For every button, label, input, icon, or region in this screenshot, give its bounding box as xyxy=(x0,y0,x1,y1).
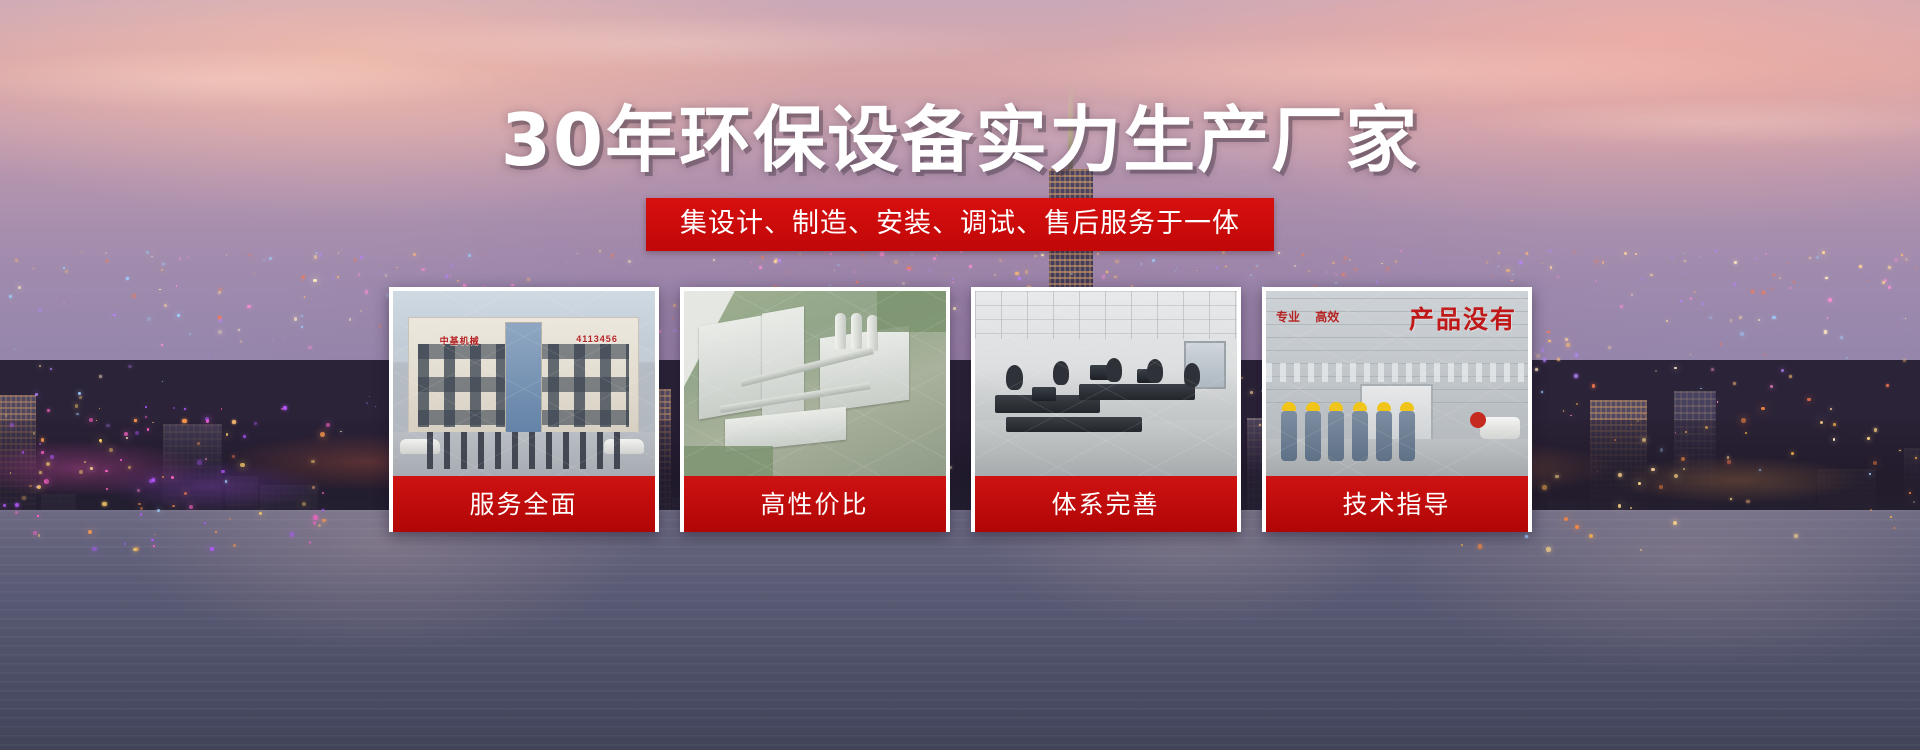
photo-silo xyxy=(851,313,862,349)
subtitle-badge: 集设计、制造、安装、调试、售后服务于一体 xyxy=(646,198,1274,251)
helmet-icon xyxy=(1353,402,1367,411)
photo-desk xyxy=(1079,384,1194,401)
wall-headline-text: 产品没有 xyxy=(1409,300,1517,336)
photo-worker xyxy=(1281,411,1297,461)
photo-roller-door xyxy=(1360,384,1433,443)
photo-greenery xyxy=(877,291,945,332)
photo-worker xyxy=(1352,411,1368,461)
aerial-factory-plant-photo xyxy=(684,291,946,476)
photo-plant-block xyxy=(820,325,909,412)
helmet-icon xyxy=(1377,402,1391,411)
helmet-icon xyxy=(1282,402,1296,411)
card-caption: 高性价比 xyxy=(684,476,946,532)
feature-card[interactable]: 体系完善 xyxy=(971,287,1241,532)
feature-card[interactable]: 高性价比 xyxy=(680,287,950,532)
photo-red-object xyxy=(1470,412,1486,428)
office-interior-team-photo xyxy=(975,291,1237,476)
banner-content: 30年环保设备实力生产厂家 集设计、制造、安装、调试、售后服务于一体 中基机械 … xyxy=(0,0,1920,750)
photo-silo xyxy=(835,313,846,349)
wall-slogan-1: 专业 xyxy=(1276,308,1300,325)
photo-person xyxy=(1184,363,1200,387)
photo-staff-lineup xyxy=(427,432,621,469)
helmet-icon xyxy=(1400,402,1414,411)
hero-banner: 30年环保设备实力生产厂家 集设计、制造、安装、调试、售后服务于一体 中基机械 … xyxy=(0,0,1920,750)
photo-person xyxy=(1006,365,1023,390)
photo-greenery xyxy=(684,446,773,476)
feature-card[interactable]: 专业 高效 产品没有 技术指导 xyxy=(1262,287,1532,532)
photo-silo xyxy=(867,315,878,351)
card-caption: 服务全面 xyxy=(393,476,655,532)
photo-van xyxy=(1480,417,1520,439)
factory-exterior-workers-photo: 专业 高效 产品没有 xyxy=(1266,291,1528,476)
feature-card-list: 中基机械 4113456 服务全面 xyxy=(389,287,1532,532)
photo-ceiling xyxy=(975,291,1237,339)
photo-person xyxy=(1053,361,1069,385)
photo-worker xyxy=(1328,411,1344,461)
photo-person xyxy=(1106,358,1122,382)
feature-card[interactable]: 中基机械 4113456 服务全面 xyxy=(389,287,659,532)
page-title: 30年环保设备实力生产厂家 xyxy=(501,104,1419,176)
card-caption: 体系完善 xyxy=(975,476,1237,532)
wall-slogan-2: 高效 xyxy=(1315,308,1339,325)
card-caption: 技术指导 xyxy=(1266,476,1528,532)
company-phone-text: 4113456 xyxy=(576,334,618,344)
photo-desk xyxy=(1006,417,1142,432)
company-sign-text: 中基机械 xyxy=(440,334,480,347)
photo-monitor xyxy=(1032,387,1056,401)
helmet-icon xyxy=(1306,402,1320,411)
photo-person xyxy=(1147,359,1163,383)
photo-window-band xyxy=(1266,363,1528,382)
helmet-icon xyxy=(1329,402,1343,411)
photo-worker xyxy=(1399,411,1415,461)
office-building-staff-photo: 中基机械 4113456 xyxy=(393,291,655,476)
photo-worker xyxy=(1376,411,1392,461)
photo-worker xyxy=(1305,411,1321,461)
